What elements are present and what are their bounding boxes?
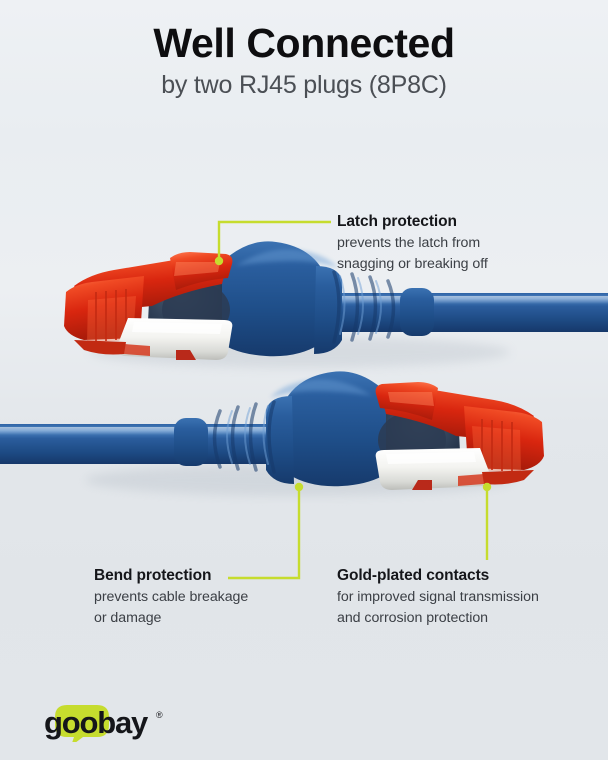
logo-wordmark: goobay — [44, 705, 149, 740]
callout-bend-line1: prevents cable breakage — [94, 587, 304, 607]
callout-bend-line2: or damage — [94, 608, 304, 628]
infographic-page: Well Connected by two RJ45 plugs (8P8C) — [0, 0, 608, 760]
callout-latch-line2: snagging or breaking off — [337, 254, 577, 274]
bottom-rj45-connector — [0, 371, 544, 496]
callout-gold-line2: and corrosion protection — [337, 608, 577, 628]
callout-gold-plated-contacts: Gold-plated contacts for improved signal… — [337, 566, 577, 628]
logo-trademark: ® — [156, 710, 163, 720]
callout-latch-protection: Latch protection prevents the latch from… — [337, 212, 577, 274]
leader-dot-bend — [295, 483, 303, 491]
callout-latch-heading: Latch protection — [337, 212, 577, 231]
goobay-logo: goobay ® — [38, 702, 188, 742]
callout-gold-heading: Gold-plated contacts — [337, 566, 577, 585]
callout-gold-line1: for improved signal transmission — [337, 587, 577, 607]
leader-dot-latch — [215, 257, 223, 265]
product-illustration — [0, 0, 608, 760]
callout-bend-heading: Bend protection — [94, 566, 304, 585]
leader-dot-gold — [483, 483, 491, 491]
leader-line-bend — [228, 486, 299, 578]
callout-bend-protection: Bend protection prevents cable breakage … — [94, 566, 304, 628]
callout-latch-line1: prevents the latch from — [337, 233, 577, 253]
